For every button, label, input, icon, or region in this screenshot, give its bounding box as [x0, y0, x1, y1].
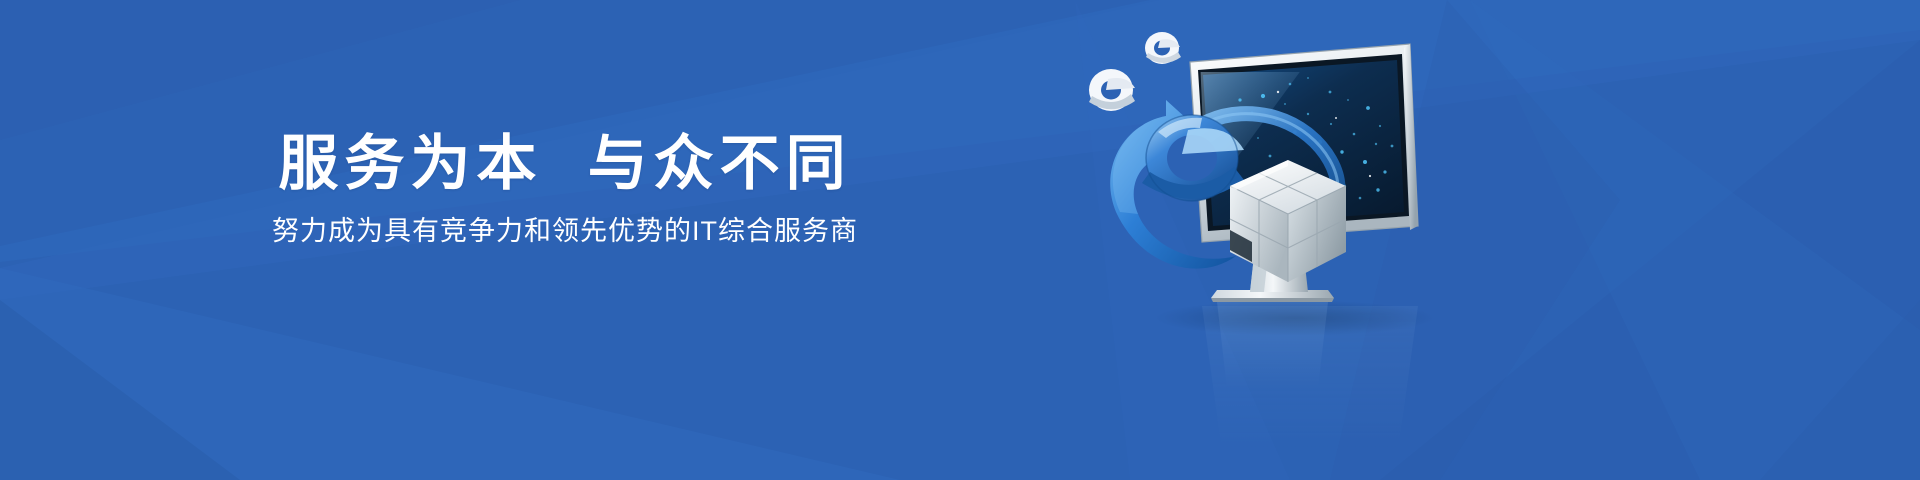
banner-headline: 服务为本 与众不同 — [0, 130, 1130, 197]
banner-subheadline: 努力成为具有竞争力和领先优势的IT综合服务商 — [0, 215, 1130, 247]
floating-e-icon-1 — [1145, 32, 1181, 64]
floor-reflection — [1202, 302, 1418, 452]
cube-icon — [1230, 160, 1346, 282]
hero-illustration — [1080, 0, 1540, 480]
hero-banner: 服务为本 与众不同 努力成为具有竞争力和领先优势的IT综合服务商 — [0, 0, 1920, 480]
banner-copy: 服务为本 与众不同 努力成为具有竞争力和领先优势的IT综合服务商 — [0, 130, 1130, 248]
floating-e-icon-2 — [1089, 69, 1135, 111]
